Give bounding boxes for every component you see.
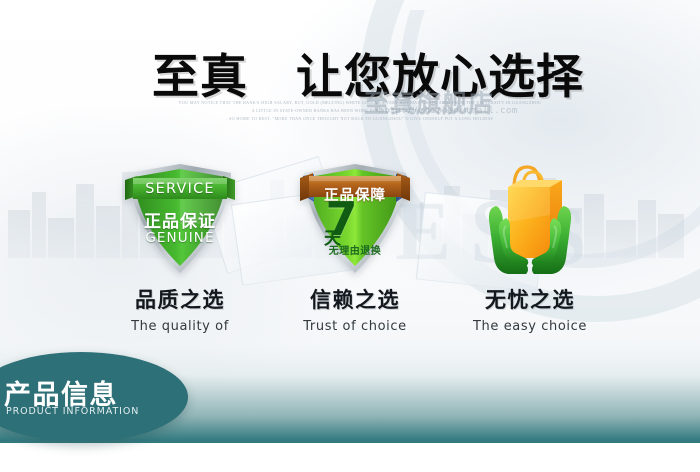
badge-caption-en: Trust of choice (271, 319, 439, 334)
badge-easy: 无忧之选 The easy choice (446, 160, 614, 334)
bottom-white-strip (0, 443, 700, 472)
hands-holding-bag-icon (446, 160, 614, 278)
shield-shape (125, 162, 235, 276)
badge-caption-en: The easy choice (446, 319, 614, 334)
hands-bag-shape (470, 160, 590, 278)
badge-row: SERVICE 正品保证 GENUINE 品质之选 The quality of (0, 160, 700, 330)
badge-caption-cn: 信赖之选 (271, 284, 439, 314)
shield-service-icon: SERVICE 正品保证 GENUINE (96, 160, 264, 278)
badge-trust: 正品保障 7 天 无理由退换 信赖之选 Trust of choice (271, 160, 439, 334)
shield-sevenday-icon: 正品保障 7 天 无理由退换 (271, 160, 439, 278)
badge-caption-cn: 品质之选 (96, 284, 264, 314)
watermark-url: http://zhizhen.tmall.com (378, 106, 518, 116)
badge-caption-cn: 无忧之选 (446, 284, 614, 314)
badge-caption-en: The quality of (96, 319, 264, 334)
promo-banner: N E S S 至真 让您放心选择 YOU MAY NOTICE THAT TH… (0, 0, 700, 472)
shield-shape (300, 162, 410, 276)
shield-number-unit: 天 (324, 224, 434, 249)
product-information-title-en: PRODUCT INFORMATION (6, 406, 176, 417)
subcopy-line-3: , SO HOME TO REST, "MORE THAN ONCE THOUG… (150, 115, 570, 123)
badge-quality: SERVICE 正品保证 GENUINE 品质之选 The quality of (96, 160, 264, 334)
